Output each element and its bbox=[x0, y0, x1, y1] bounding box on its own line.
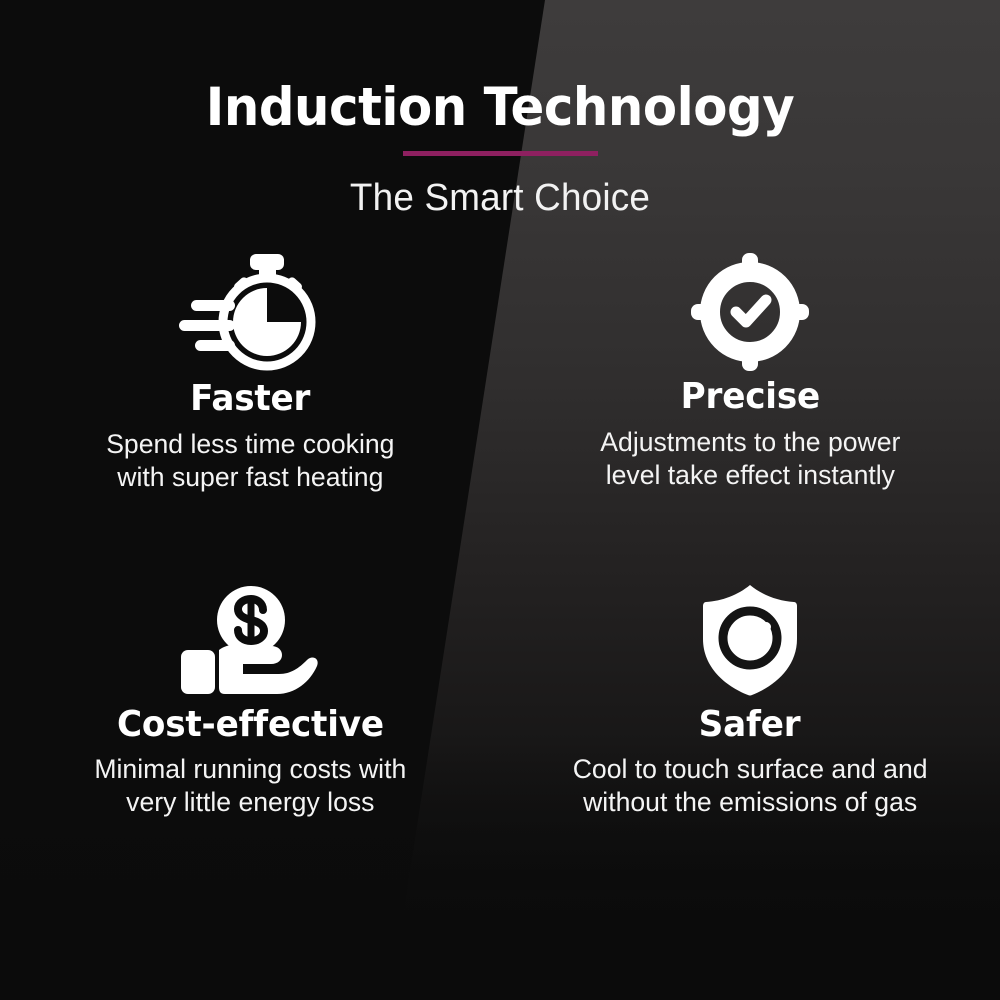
induction-technology-poster: Induction Technology The Smart Choice bbox=[0, 0, 1000, 1000]
feature-title: Faster bbox=[190, 380, 310, 418]
feature-description: Minimal running costs with very little e… bbox=[94, 753, 406, 819]
feature-description: Spend less time cooking with super fast … bbox=[106, 428, 394, 494]
stopwatch-speed-icon bbox=[177, 252, 323, 372]
title-accent-rule bbox=[403, 151, 598, 156]
feature-title: Precise bbox=[680, 378, 819, 416]
feature-grid: Faster Spend less time cooking with supe… bbox=[0, 252, 1000, 912]
page-title: Induction Technology bbox=[30, 80, 970, 136]
feature-card-safer: Safer Cool to touch surface and and with… bbox=[500, 582, 1000, 912]
feature-card-precise: Precise Adjustments to the power level t… bbox=[500, 252, 1000, 582]
feature-title: Safer bbox=[699, 706, 801, 744]
feature-card-faster: Faster Spend less time cooking with supe… bbox=[0, 252, 500, 582]
target-check-icon bbox=[691, 252, 809, 372]
feature-description: Cool to touch surface and and without th… bbox=[573, 753, 928, 819]
poster-header: Induction Technology The Smart Choice bbox=[0, 0, 1000, 220]
feature-card-cost-effective: Cost-effective Minimal running costs wit… bbox=[0, 582, 500, 912]
feature-title: Cost-effective bbox=[117, 706, 384, 744]
hand-holding-coin-icon bbox=[179, 582, 321, 698]
feature-description: Adjustments to the power level take effe… bbox=[600, 426, 900, 492]
shield-check-icon bbox=[698, 582, 802, 698]
page-subtitle: The Smart Choice bbox=[15, 177, 985, 220]
